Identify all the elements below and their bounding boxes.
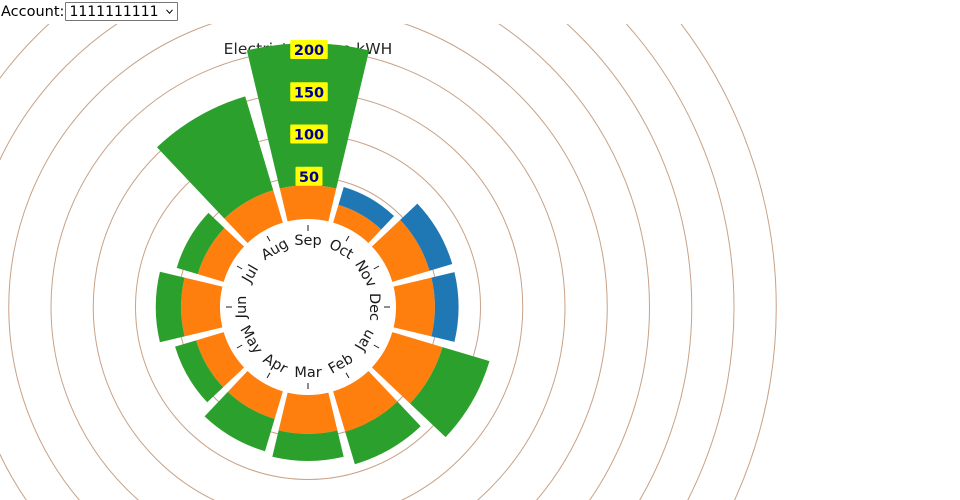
bar-segment-sep-series-orange[interactable]	[280, 185, 336, 221]
tick-label-150: 150	[294, 85, 324, 101]
month-label-jul: Jul	[239, 262, 262, 286]
bar-segment-jun-series-orange[interactable]	[181, 278, 222, 337]
account-bar: Account: 1111111111	[0, 0, 178, 21]
polar-stacked-bar-chart: SepOctNovDecJanFebMarAprMayJunJulAug5010…	[0, 24, 960, 500]
bar-segment-mar-series-green[interactable]	[272, 430, 343, 460]
bar-segment-mar-series-orange[interactable]	[279, 393, 338, 434]
month-label-feb: Feb	[326, 351, 356, 378]
account-select-wrap: 1111111111	[64, 2, 178, 21]
app-root: Account: 1111111111 Electricty Usage kWH…	[0, 0, 960, 500]
month-label-mar: Mar	[294, 365, 321, 381]
tick-label-200: 200	[294, 43, 324, 59]
month-tick-apr	[267, 373, 270, 378]
month-label-may: May	[236, 323, 265, 357]
month-label-jan: Jan	[352, 326, 378, 354]
month-tick-feb	[346, 373, 349, 378]
month-tick-jan	[374, 345, 379, 348]
bar-wedges	[156, 43, 490, 464]
month-tick-aug	[267, 236, 270, 241]
month-label-jun: Jun	[234, 296, 250, 320]
month-label-nov: Nov	[351, 258, 379, 291]
month-labels: SepOctNovDecJanFebMarAprMayJunJulAug	[226, 225, 390, 389]
account-select[interactable]: 1111111111	[65, 2, 178, 21]
account-label: Account:	[1, 3, 64, 21]
bar-segment-dec-series-blue[interactable]	[431, 272, 458, 342]
month-tick-oct	[346, 236, 349, 241]
chart-area: Electricty Usage kWH SepOctNovDecJanFebM…	[0, 24, 960, 500]
month-tick-may	[237, 345, 242, 348]
month-label-apr: Apr	[260, 351, 290, 377]
bar-segment-dec-series-orange[interactable]	[394, 278, 435, 337]
tick-label-50: 50	[299, 170, 319, 186]
month-label-aug: Aug	[259, 236, 292, 264]
month-label-oct: Oct	[326, 237, 356, 264]
month-label-dec: Dec	[366, 293, 382, 321]
tick-label-100: 100	[294, 128, 324, 144]
month-label-sep: Sep	[294, 233, 321, 249]
month-tick-nov	[374, 266, 379, 269]
month-tick-jul	[237, 266, 242, 269]
bar-segment-jun-series-green[interactable]	[156, 272, 185, 343]
